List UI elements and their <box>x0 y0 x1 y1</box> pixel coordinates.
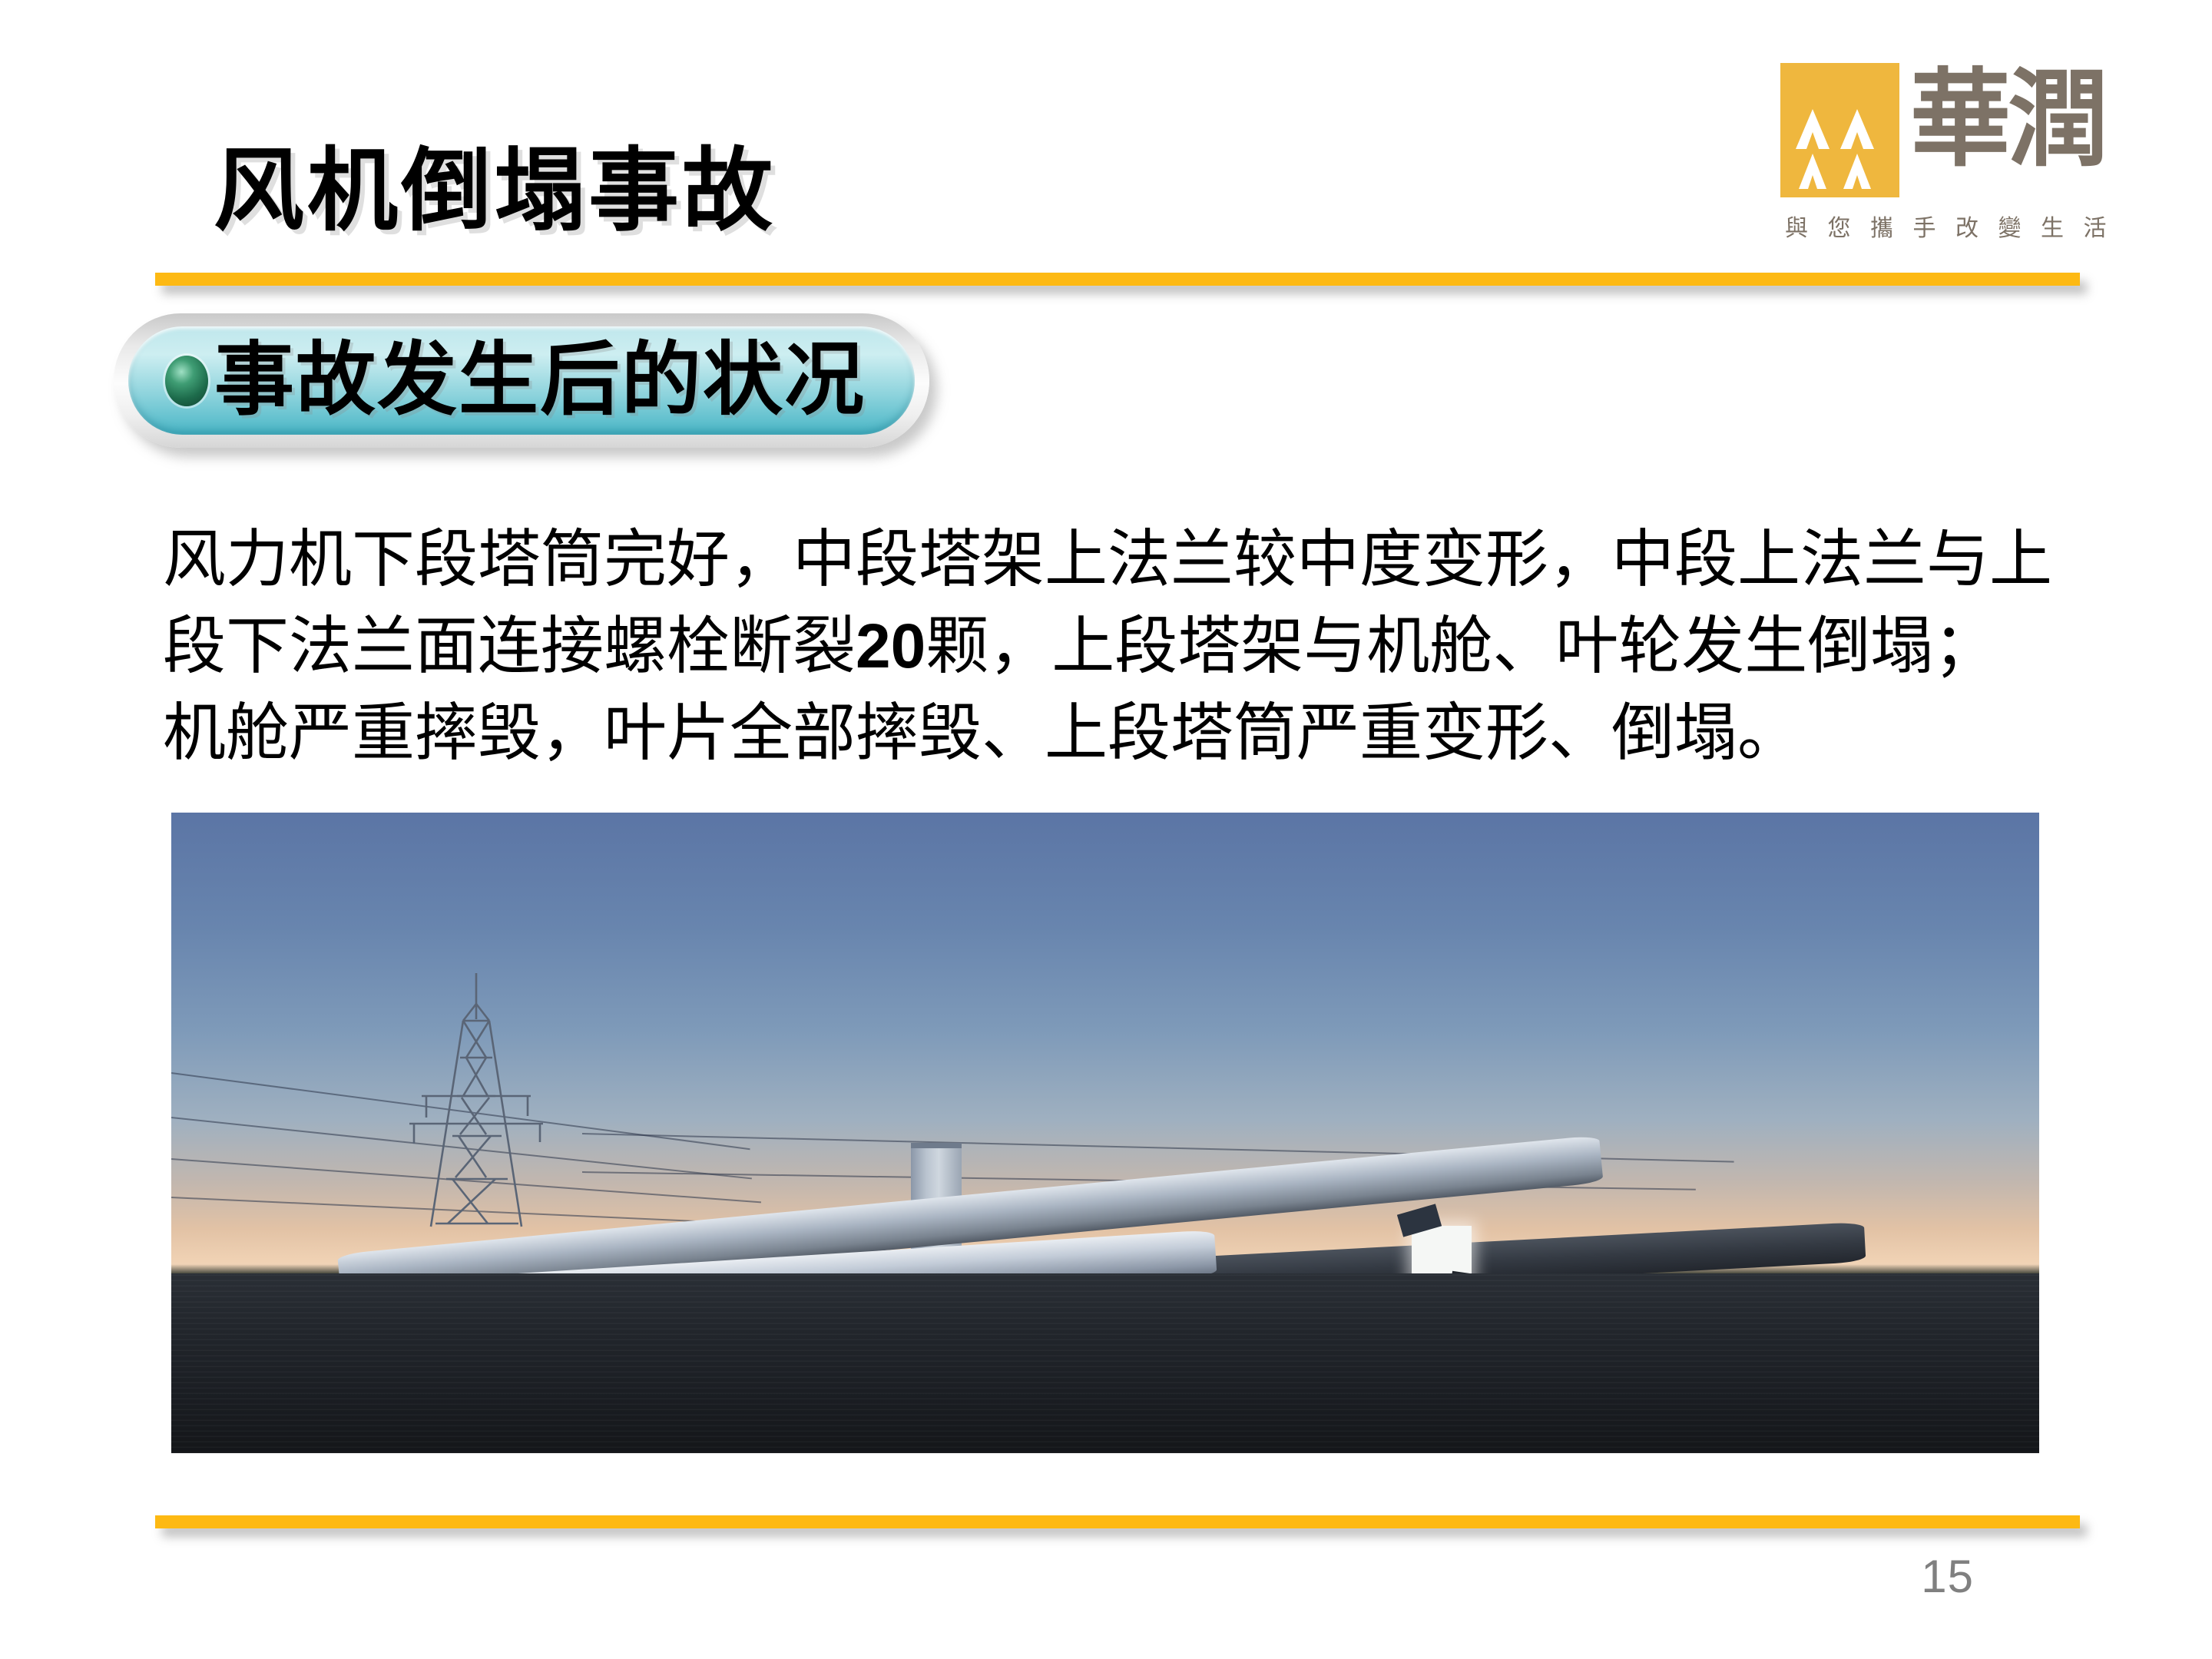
logo-wordmark: 華潤 <box>1910 63 2106 178</box>
brand-logo: 華潤 與 您 攜 手 改 變 生 活 <box>1780 63 2097 255</box>
page-title: 风机倒塌事故 <box>214 144 776 240</box>
logo-tagline: 與 您 攜 手 改 變 生 活 <box>1785 209 2097 243</box>
section-header-label: 事故发生后的状况 <box>214 341 866 421</box>
green-sphere-bullet-icon <box>165 356 208 406</box>
slide-canvas: 风机倒塌事故 華潤 與 您 攜 手 改 變 生 活 <box>0 0 2212 1659</box>
section-header-badge-inner: 事故发生后的状况 <box>128 326 915 435</box>
body-paragraph-number: 20 <box>856 611 926 681</box>
footer-divider-gold-bar <box>155 1515 2080 1528</box>
body-paragraph: 风力机下段塔筒完好，中段塔架上法兰较中度变形，中段上法兰与上段下法兰面连接螺栓断… <box>163 516 2052 777</box>
transmission-tower-icon <box>396 973 557 1280</box>
accident-photo <box>171 813 2039 1453</box>
section-header-badge: 事故发生后的状况 <box>114 313 929 448</box>
page-number: 15 <box>1882 1550 1974 1603</box>
photo-ground <box>171 1273 2039 1453</box>
title-divider-gold-bar <box>155 273 2080 286</box>
china-resources-chevron-mark-icon <box>1780 63 1899 197</box>
